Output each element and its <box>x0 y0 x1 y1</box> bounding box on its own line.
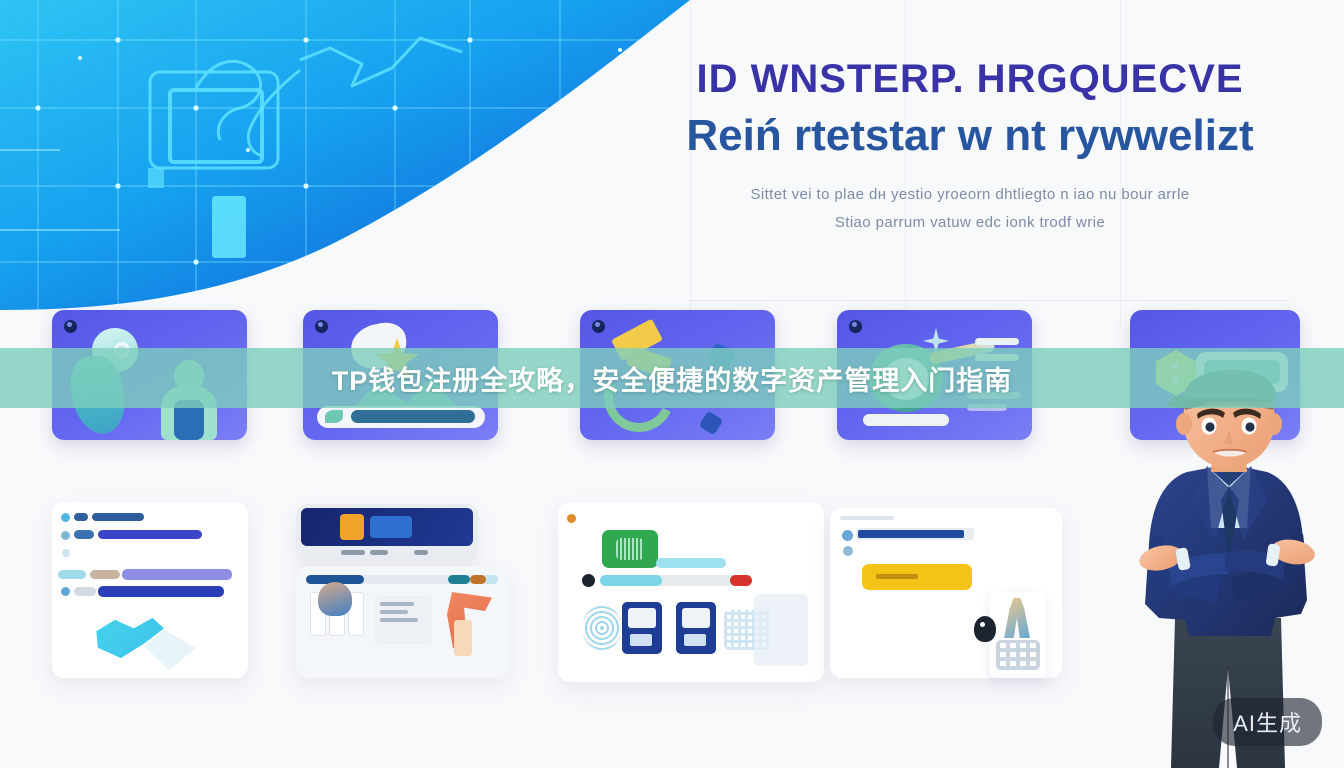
result-icon <box>61 587 70 596</box>
url-bar-fill <box>98 530 202 539</box>
menu-icon <box>843 546 853 556</box>
eye-icon <box>592 320 605 333</box>
hero-subtitle-1: Sittet vei to plae dн yestio yroeorn dht… <box>640 181 1300 210</box>
input-fill <box>351 410 475 423</box>
device-screen-left <box>628 608 656 628</box>
side-panel-ghost <box>754 594 808 666</box>
qr-pattern <box>616 538 644 560</box>
progress-segment <box>470 575 486 584</box>
fingerprint-icon <box>582 606 622 650</box>
hero-headline-1: ID WNSTERP. HRGQUECVE <box>640 56 1300 102</box>
person-blue-figure <box>318 582 352 616</box>
blue-tile <box>370 516 412 538</box>
result-row-fill <box>90 570 120 579</box>
hero-subtitle-2: Stiao parrum vatuw edc ionk trodf wrie <box>640 209 1300 238</box>
tech-arc-graphic <box>0 0 690 310</box>
favicon-icon <box>61 513 70 522</box>
hero-text-block: ID WNSTERP. HRGQUECVE Reiń rtetstar w nt… <box>640 56 1300 238</box>
page-title: TP钱包注册全攻略，安全便捷的数字资产管理入门指南 <box>332 359 1013 398</box>
result-row-fill <box>74 587 96 596</box>
input-fill-cyan <box>600 575 662 586</box>
panel-green-qr[interactable] <box>558 502 824 682</box>
lock-icon <box>842 530 853 541</box>
title-overlay-band: TP钱包注册全攻略，安全便捷的数字资产管理入门指南 <box>0 348 1344 408</box>
banner-stage: ID WNSTERP. HRGQUECVE Reiń rtetstar w nt… <box>0 0 1344 768</box>
panel-dark-header[interactable] <box>296 504 478 562</box>
keypad-grid <box>996 640 1040 670</box>
eye-icon <box>315 320 328 333</box>
tab-label-mock <box>74 513 88 521</box>
hero-underline <box>690 300 1290 301</box>
panel-browser-search[interactable] <box>52 502 248 678</box>
penguin-eye <box>980 622 985 627</box>
leaf-icon <box>325 410 343 423</box>
result-row-fill <box>122 569 232 580</box>
status-dot-orange <box>567 514 576 523</box>
penguin-icon <box>974 616 996 642</box>
panel-phone-gallery[interactable] <box>296 566 508 678</box>
caption-mock <box>370 550 388 555</box>
progress-segment <box>448 575 470 584</box>
doc-line-mock <box>380 610 408 614</box>
device-screen-right <box>682 608 710 628</box>
url-field-fill <box>858 530 964 538</box>
blue-chip-shape <box>699 411 724 436</box>
ai-watermark: AI生成 <box>1213 698 1322 746</box>
delete-button-red[interactable] <box>730 575 752 586</box>
progress-segment <box>486 575 498 584</box>
result-row-mock <box>58 570 86 579</box>
device-label-left <box>630 634 652 646</box>
eye-icon <box>849 320 862 333</box>
drop-icon <box>62 549 70 557</box>
hero-headline-2: Reiń rtetstar w nt rywwelizt <box>640 110 1300 163</box>
caption-mock <box>341 550 365 555</box>
primary-button-label <box>876 574 918 579</box>
text-line-mock <box>975 338 1019 345</box>
avatar-dark <box>582 574 595 587</box>
pedestal-shape <box>863 414 949 426</box>
row-fill-cyan <box>656 558 726 568</box>
back-icon <box>61 531 70 540</box>
result-row-fill <box>98 586 224 597</box>
tab-title-mock <box>92 513 144 521</box>
doc-line-mock <box>380 618 418 622</box>
panel-yellow-button[interactable] <box>830 508 1062 678</box>
device-label-right <box>684 634 706 646</box>
eye-icon <box>64 320 77 333</box>
doc-line-mock <box>380 602 414 606</box>
url-bar-mock[interactable] <box>74 530 94 539</box>
caption-mock <box>414 550 428 555</box>
header-strip <box>840 516 894 520</box>
side-card-mock <box>454 620 472 656</box>
orange-tile <box>340 514 364 540</box>
